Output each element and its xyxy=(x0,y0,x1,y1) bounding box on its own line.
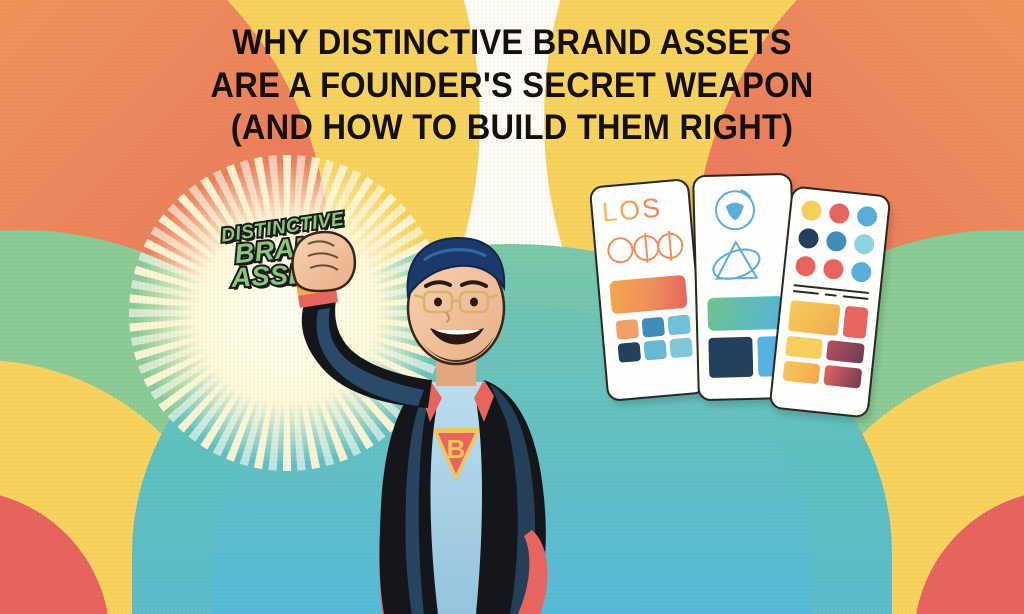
card1-los-label: LOS xyxy=(591,180,690,229)
card3-swatch-row-2 xyxy=(785,336,865,364)
emblem-letter: B xyxy=(447,434,466,464)
triangle-orbit-icon xyxy=(709,242,764,285)
headline-line-2: ARE A FOUNDER'S SECRET WEAPON xyxy=(36,65,988,108)
card3-swatch-row-3 xyxy=(783,361,863,389)
card2-gradient-swatch xyxy=(707,296,784,331)
headline-block: WHY DISTINCTIVE BRAND ASSETS ARE A FOUND… xyxy=(0,22,1024,150)
headline-line-3: (AND HOW TO BUILD THEM RIGHT) xyxy=(36,107,988,150)
card3-swatch-row-1 xyxy=(788,300,869,339)
card3-color-dot-grid xyxy=(795,200,879,284)
headline-line-1: WHY DISTINCTIVE BRAND ASSETS xyxy=(36,22,988,65)
hero-eye-left xyxy=(434,298,442,307)
card2-logo-marks xyxy=(700,183,795,289)
hero-eye-right xyxy=(470,298,478,307)
superhero-founder-illustration: B xyxy=(232,230,662,614)
bird-circle-icon xyxy=(715,190,754,230)
hero-svg: B xyxy=(232,230,662,614)
card3-rule-marks xyxy=(793,284,869,300)
hero-banner: DISTINCTIVE BRAND ASSETS B xyxy=(0,0,1024,614)
